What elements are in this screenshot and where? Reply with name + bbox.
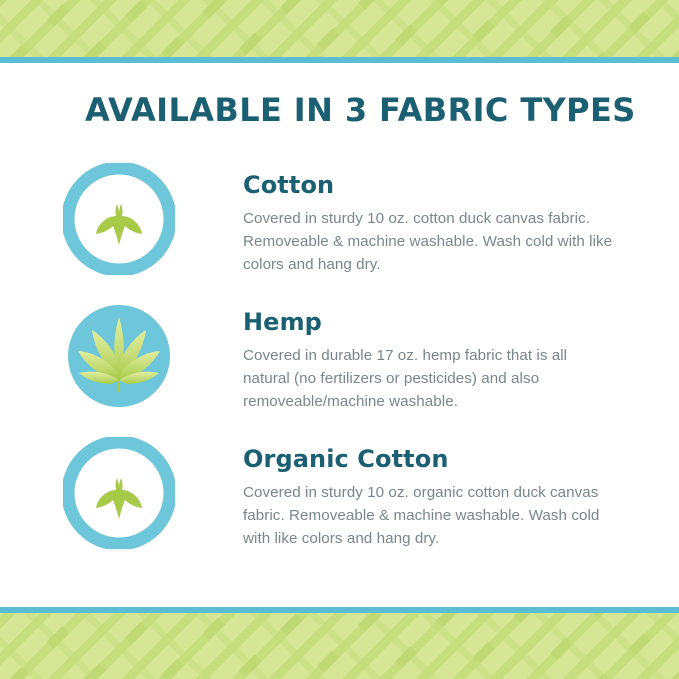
diagonal-dash-pattern xyxy=(0,0,679,57)
fabric-description: Covered in durable 17 oz. hemp fabric th… xyxy=(243,344,615,413)
fabric-types-infographic: AVAILABLE IN 3 FABRIC TYPES Cotton Cover… xyxy=(0,0,679,679)
fabric-description: Covered in sturdy 10 oz. organic cotton … xyxy=(243,481,615,550)
hemp-leaf-icon xyxy=(63,300,175,412)
fabric-description: Covered in sturdy 10 oz. cotton duck can… xyxy=(243,207,615,276)
main-content: AVAILABLE IN 3 FABRIC TYPES Cotton Cover… xyxy=(0,63,679,613)
cotton-boll-icon xyxy=(63,437,175,549)
fabric-text-hemp: Hemp Covered in durable 17 oz. hemp fabr… xyxy=(175,300,615,413)
fabric-heading: Cotton xyxy=(243,171,615,199)
fabric-list: Cotton Covered in sturdy 10 oz. cotton d… xyxy=(0,163,679,574)
fabric-heading: Organic Cotton xyxy=(243,445,615,473)
top-decorative-band xyxy=(0,0,679,57)
fabric-row-hemp: Hemp Covered in durable 17 oz. hemp fabr… xyxy=(0,300,679,413)
fabric-text-organic-cotton: Organic Cotton Covered in sturdy 10 oz. … xyxy=(175,437,615,550)
bottom-decorative-band xyxy=(0,613,679,679)
fabric-row-organic-cotton: Organic Cotton Covered in sturdy 10 oz. … xyxy=(0,437,679,550)
fabric-heading: Hemp xyxy=(243,308,615,336)
diagonal-dash-pattern xyxy=(0,613,679,679)
cotton-boll-icon xyxy=(63,163,175,275)
fabric-row-cotton: Cotton Covered in sturdy 10 oz. cotton d… xyxy=(0,163,679,276)
page-title: AVAILABLE IN 3 FABRIC TYPES xyxy=(85,91,636,129)
fabric-text-cotton: Cotton Covered in sturdy 10 oz. cotton d… xyxy=(175,163,615,276)
